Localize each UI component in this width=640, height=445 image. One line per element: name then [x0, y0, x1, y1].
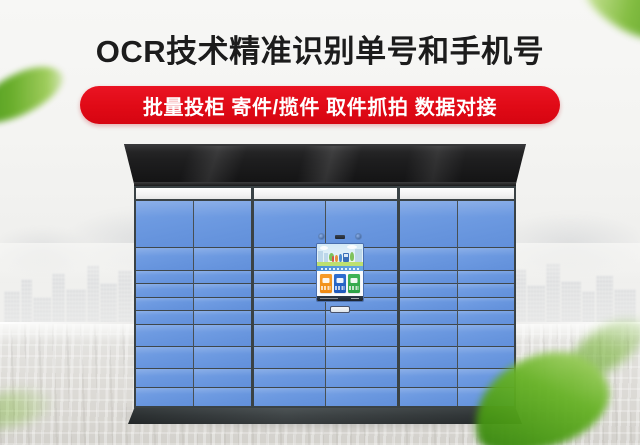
locker-door[interactable] — [400, 298, 457, 311]
locker-door[interactable] — [400, 284, 457, 297]
locker-door[interactable] — [254, 347, 325, 369]
locker-door[interactable] — [136, 325, 193, 347]
locker-door[interactable] — [136, 369, 193, 388]
locker-door[interactable] — [254, 369, 325, 388]
locker-door[interactable] — [136, 284, 193, 297]
truck-icon — [351, 278, 358, 283]
locker-door[interactable] — [458, 311, 515, 324]
camera-icon — [318, 233, 325, 240]
left-cabinet-header-panel — [136, 188, 251, 201]
camera-bar — [313, 232, 367, 241]
locker-terminal[interactable] — [313, 232, 367, 316]
camera-icon — [355, 233, 362, 240]
locker-door[interactable] — [458, 201, 515, 248]
button-label — [335, 286, 345, 290]
locker-door[interactable] — [400, 201, 457, 248]
locker-door[interactable] — [458, 248, 515, 270]
screen-notice-bar — [317, 266, 363, 271]
locker-door[interactable] — [136, 347, 193, 369]
right-cabinet — [398, 186, 516, 408]
send-parcel-button[interactable] — [348, 274, 360, 293]
box-icon — [323, 278, 330, 283]
locker-door[interactable] — [400, 388, 457, 406]
locker-door[interactable] — [458, 347, 515, 369]
parcel-icon — [337, 278, 344, 283]
door-column — [400, 201, 458, 406]
locker-door[interactable] — [400, 347, 457, 369]
locker-door[interactable] — [136, 201, 193, 248]
screen-illustration — [317, 244, 363, 266]
locker-door[interactable] — [194, 325, 251, 347]
center-cabinet-header-panel — [254, 188, 397, 201]
locker-door[interactable] — [400, 369, 457, 388]
locker-door[interactable] — [194, 369, 251, 388]
page-title: OCR技术精准识别单号和手机号 — [0, 26, 640, 71]
locker-door[interactable] — [326, 388, 397, 406]
canopy-highlight — [124, 146, 526, 184]
promo-banner: OCR技术精准识别单号和手机号 批量投柜 寄件/揽件 取件抓拍 数据对接 — [0, 0, 640, 445]
locker-door[interactable] — [136, 271, 193, 284]
smart-parcel-locker — [134, 144, 516, 422]
deposit-parcel-button[interactable] — [320, 274, 332, 293]
locker-door[interactable] — [136, 298, 193, 311]
locker-door[interactable] — [458, 298, 515, 311]
locker-door[interactable] — [136, 248, 193, 270]
locker-door[interactable] — [136, 388, 193, 406]
screen-action-buttons — [317, 271, 363, 296]
locker-door[interactable] — [194, 248, 251, 270]
locker-door[interactable] — [400, 311, 457, 324]
locker-door[interactable] — [400, 271, 457, 284]
terminal-touchscreen[interactable] — [316, 243, 364, 302]
door-column — [136, 201, 194, 406]
locker-door[interactable] — [400, 248, 457, 270]
locker-door[interactable] — [194, 347, 251, 369]
feature-badge: 批量投柜 寄件/揽件 取件抓拍 数据对接 — [80, 86, 560, 124]
locker-door[interactable] — [458, 325, 515, 347]
locker-door[interactable] — [326, 347, 397, 369]
locker-door[interactable] — [194, 201, 251, 248]
header: OCR技术精准识别单号和手机号 批量投柜 寄件/揽件 取件抓拍 数据对接 — [0, 0, 640, 140]
locker-door[interactable] — [136, 311, 193, 324]
left-cabinet — [134, 186, 252, 408]
left-cabinet-door-grid — [136, 201, 251, 406]
card-slot[interactable] — [330, 306, 350, 313]
button-label — [321, 286, 331, 290]
locker-door[interactable] — [326, 369, 397, 388]
screen-status-bar — [317, 296, 363, 301]
locker-door[interactable] — [194, 311, 251, 324]
locker-door[interactable] — [326, 325, 397, 347]
locker-door[interactable] — [254, 388, 325, 406]
locker-door[interactable] — [254, 325, 325, 347]
feature-badge-label: 批量投柜 寄件/揽件 取件抓拍 数据对接 — [80, 86, 560, 124]
locker-door[interactable] — [400, 325, 457, 347]
locker-door[interactable] — [194, 388, 251, 406]
locker-door[interactable] — [458, 284, 515, 297]
plinth-shading — [128, 408, 522, 424]
door-column — [194, 201, 251, 406]
right-cabinet-door-grid — [400, 201, 514, 406]
locker-door[interactable] — [458, 271, 515, 284]
locker-door[interactable] — [194, 298, 251, 311]
locker-door[interactable] — [194, 271, 251, 284]
right-cabinet-header-panel — [400, 188, 514, 201]
locker-door[interactable] — [194, 284, 251, 297]
infrared-sensor-icon — [335, 235, 345, 239]
pickup-parcel-button[interactable] — [334, 274, 346, 293]
button-label — [349, 286, 359, 290]
